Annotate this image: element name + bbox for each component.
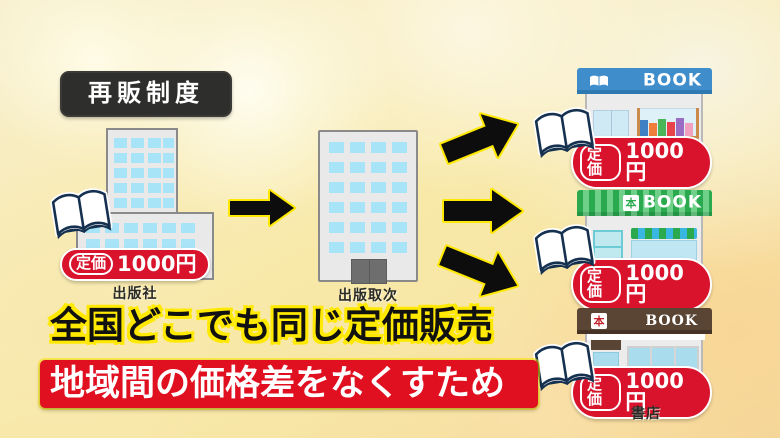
distributor-building [318,130,418,282]
bookstore-2-sign-text: BOOK [643,195,702,212]
arrow-down-right-icon [436,238,526,308]
distributor-caption: 出版取次 [313,285,423,305]
publisher-caption: 出版社 [80,283,190,303]
title-label: 再販制度 [88,81,204,105]
arrow-right-icon [228,188,298,232]
bookstore-3-sign-text: BOOK [645,314,698,328]
bookstore-3-caption: 書店 [591,403,701,423]
open-book-icon [531,334,598,395]
open-book-icon [48,182,115,243]
open-book-icon [531,101,598,162]
bookstore-1-sign: BOOK [577,68,712,94]
price-label: 定価 [69,253,113,275]
open-book-icon [531,218,598,279]
bookstore-2-sign: 本 BOOK [577,190,712,216]
price-badge: 定価 1000円 [60,248,210,281]
title-badge: 再販制度 [60,71,232,117]
hon-label: 本 [626,198,637,209]
price-amount: 1000円 [625,141,698,183]
infographic-canvas: 再販制度 [0,0,780,438]
bookstore-3-sign: 本 BOOK [577,308,712,334]
headline-primary: 全国どこでも同じ定価販売 [50,307,493,344]
arrow-right-icon [440,185,526,241]
hon-square-icon: 本 [591,313,607,329]
distributor-body [318,130,418,282]
price-amount: 1000円 [625,263,698,305]
headline-secondary-banner: 地域間の価格差をなくすため [40,360,538,408]
price-amount: 1000円 [117,254,196,275]
distributor-door [351,259,387,284]
hon-label: 本 [594,316,605,327]
publisher-tower [106,128,178,220]
open-book-icon [589,74,609,88]
bookstore-1-sign-text: BOOK [643,73,702,90]
arrow-up-right-icon [438,108,524,174]
headline-secondary: 地域間の価格差をなくすため [50,364,505,404]
hon-square-icon: 本 [623,195,639,211]
price-label: 定価 [580,266,621,303]
